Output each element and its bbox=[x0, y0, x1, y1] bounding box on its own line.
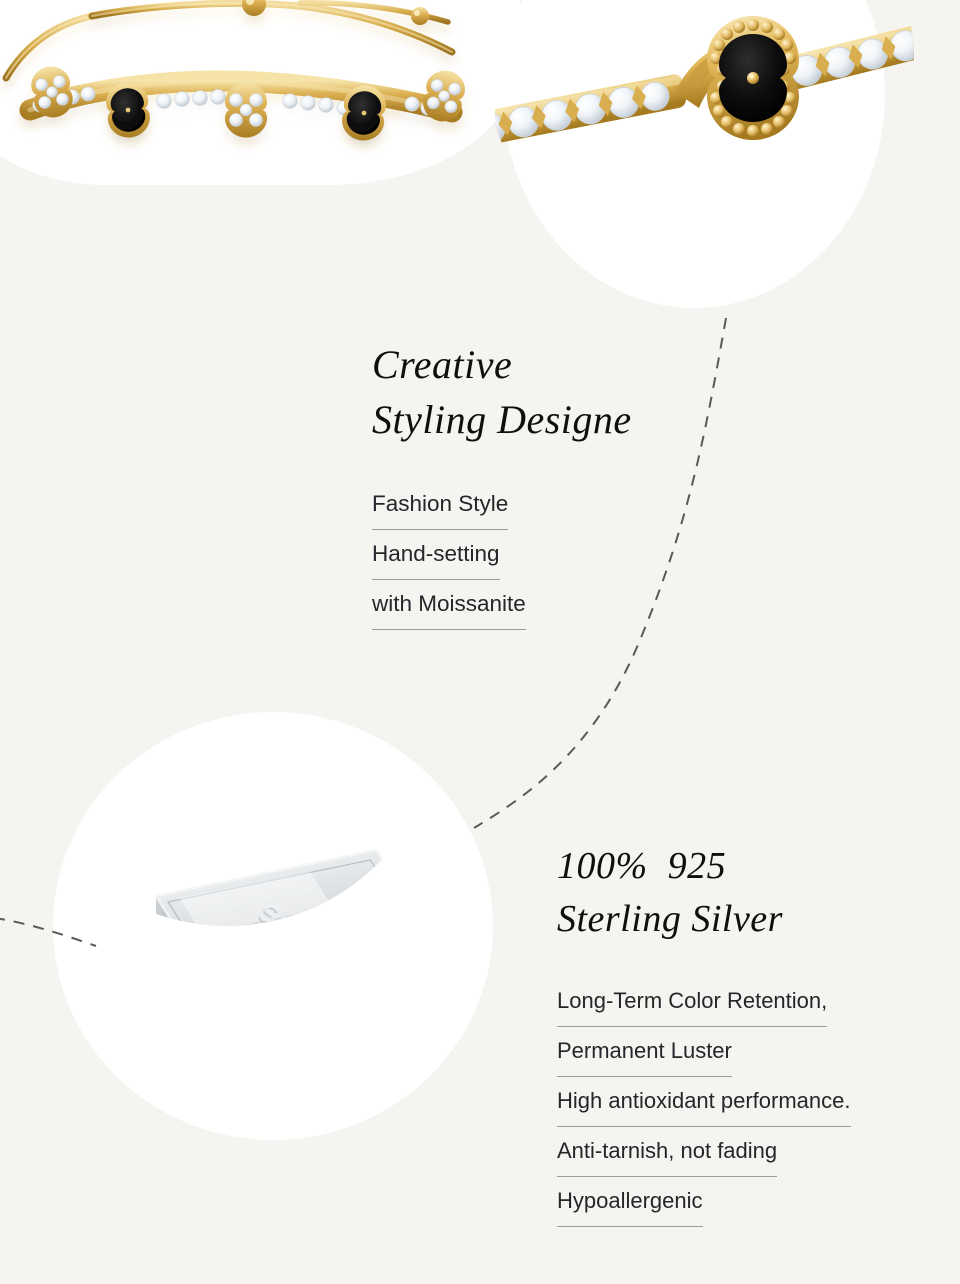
silver-stamp-purity-lower: 999.9 bbox=[203, 1045, 264, 1080]
silver-feature-item: Anti-tarnish, not fading bbox=[557, 1127, 947, 1177]
styling-feature-item: with Moissanite bbox=[372, 580, 732, 630]
gold-clover-bracelet-photo bbox=[0, 0, 480, 180]
silver-feature-item: Permanent Luster bbox=[557, 1027, 947, 1077]
styling-heading-line-2: Styling Designe bbox=[372, 392, 732, 447]
silver-feature-item: Hypoallergenic bbox=[557, 1177, 947, 1227]
styling-heading: Creative Styling Designe bbox=[372, 337, 732, 447]
silver-heading-line-2: Sterling Silver bbox=[557, 893, 947, 946]
silver-feature-text: Hypoallergenic bbox=[557, 1177, 703, 1227]
silver-feature-text: Long-Term Color Retention, bbox=[557, 977, 827, 1027]
styling-design-section: Creative Styling Designe Fashion Style H… bbox=[372, 304, 732, 630]
silver-feature-item: Long-Term Color Retention, bbox=[557, 977, 947, 1027]
product-infographic: SILVER 999.9 SILVER SILVER bbox=[0, 0, 960, 1284]
silver-stamp-purity-highlight: 999.9 bbox=[243, 931, 308, 967]
styling-feature-item: Fashion Style bbox=[372, 480, 732, 530]
silver-stamp-purity: 999.9 bbox=[242, 932, 307, 968]
styling-feature-text: Fashion Style bbox=[372, 480, 508, 530]
styling-feature-text: with Moissanite bbox=[372, 580, 526, 630]
styling-feature-item: Hand-setting bbox=[372, 530, 732, 580]
styling-feature-list: Fashion Style Hand-setting with Moissani… bbox=[372, 480, 732, 630]
silver-heading: 100% 925 Sterling Silver bbox=[557, 840, 947, 946]
silver-stamp-metal-lower: SILVER bbox=[215, 1018, 320, 1071]
sterling-silver-section: 100% 925 Sterling Silver Long-Term Color… bbox=[557, 808, 947, 1227]
styling-heading-line-1: Creative bbox=[372, 337, 732, 392]
silver-feature-list: Long-Term Color Retention, Permanent Lus… bbox=[557, 977, 947, 1227]
silver-feature-text: Permanent Luster bbox=[557, 1027, 732, 1077]
silver-feature-text: Anti-tarnish, not fading bbox=[557, 1127, 777, 1177]
styling-feature-text: Hand-setting bbox=[372, 530, 500, 580]
silver-bullion-photo: SILVER 999.9 SILVER SILVER bbox=[60, 840, 490, 1140]
silver-heading-line-1: 100% 925 bbox=[557, 840, 947, 893]
silver-feature-text: High antioxidant performance. bbox=[557, 1077, 851, 1127]
silver-feature-item: High antioxidant performance. bbox=[557, 1077, 947, 1127]
clover-macro-closeup-photo bbox=[495, 0, 960, 200]
